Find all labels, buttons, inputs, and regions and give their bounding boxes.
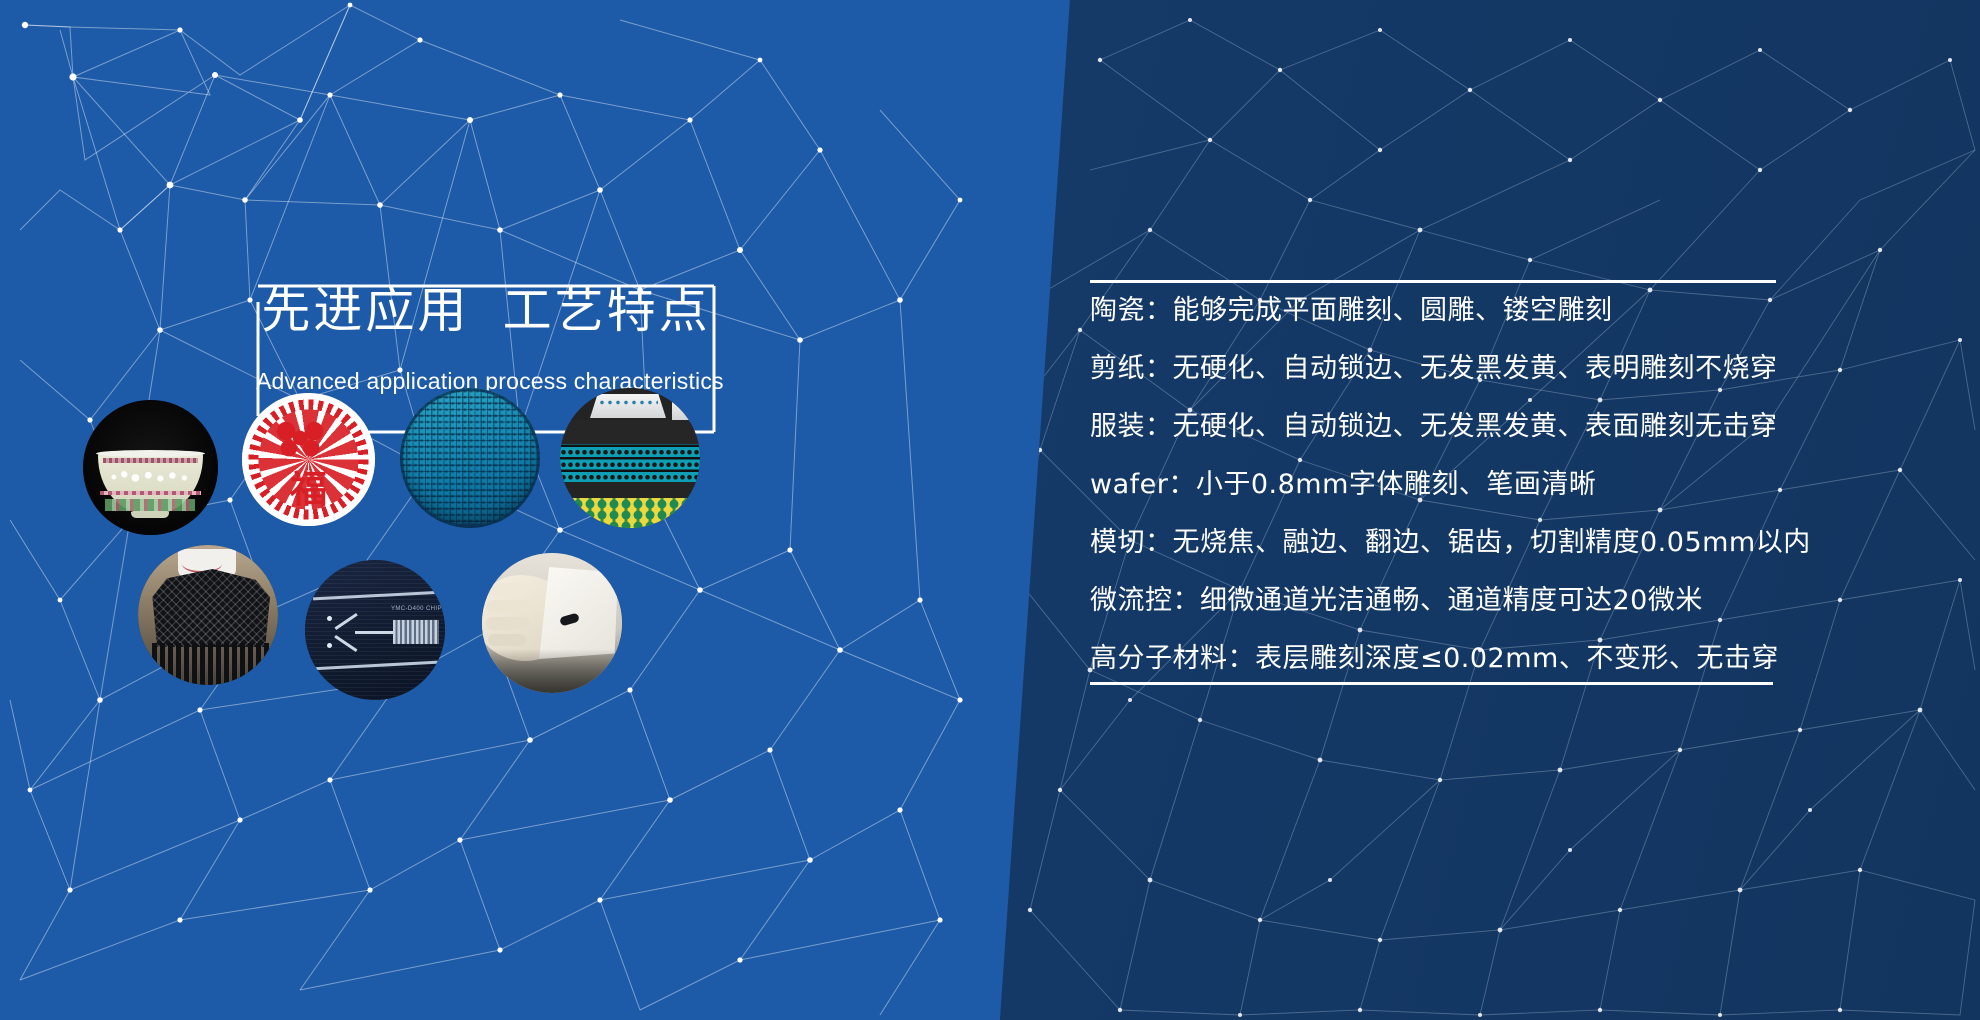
glove-finger-2 xyxy=(486,600,532,613)
bowl-engraved-motif xyxy=(107,468,193,486)
spec-item-ceramic: 陶瓷：能够完成平面雕刻、圆雕、镂空雕刻 xyxy=(1090,297,1790,324)
garment-fringe xyxy=(152,643,270,685)
film-shadow xyxy=(482,649,622,693)
gallery-item-micro-structure-chip[interactable] xyxy=(560,388,700,528)
microfluidic-inlet-upper xyxy=(327,616,332,621)
bowl-band-lower xyxy=(105,499,195,511)
gallery-item-polymer-film-hand[interactable] xyxy=(482,553,622,693)
bowl-foot xyxy=(131,512,169,518)
glove-finger-4 xyxy=(488,634,526,646)
microfluidic-inlet-lower xyxy=(327,643,332,648)
microfluidic-chip-label: YMC-D400 CHIP xyxy=(391,606,442,612)
papercut-rosette xyxy=(272,415,328,461)
bowl-band-top xyxy=(103,458,198,463)
bowl-band-middle xyxy=(100,491,201,495)
chip-white-pad-secondary xyxy=(672,400,700,422)
chip-white-pad-holes xyxy=(598,400,658,405)
specifications-list: 陶瓷：能够完成平面雕刻、圆雕、镂空雕刻 剪纸：无硬化、自动锁边、无发黑发黄、表明… xyxy=(1090,297,1790,672)
chip-dark-band-upper xyxy=(560,420,700,444)
chip-dark-band-lower xyxy=(560,482,700,498)
spec-item-polymer: 高分子材料：表层雕刻深度≤0.02mm、不变形、无击穿 xyxy=(1090,645,1790,672)
microfluidic-comb-array xyxy=(393,620,439,644)
gallery-item-microfluidic-chip[interactable]: YMC-D400 CHIP xyxy=(305,560,445,700)
gallery-item-silicon-wafer[interactable] xyxy=(400,388,540,528)
wafer-edge-ring xyxy=(400,388,540,528)
glove-finger-3 xyxy=(486,617,530,630)
spec-item-microfluidics: 微流控：细微通道光洁通畅、通道精度可达20微米 xyxy=(1090,587,1790,614)
chip-yellow-microcells xyxy=(560,498,700,528)
glove-finger-1 xyxy=(486,583,528,596)
gallery-item-red-papercut[interactable]: 福 xyxy=(242,393,375,526)
gallery-item-ceramic-bowl[interactable] xyxy=(83,400,218,535)
divider-top xyxy=(1090,280,1776,283)
chip-teal-separators xyxy=(560,444,700,482)
banner-stage: 先进应用 工艺特点 Advanced application process c… xyxy=(0,0,1980,1020)
gallery-item-perforated-garment[interactable] xyxy=(138,545,278,685)
spec-item-diecut: 模切：无烧焦、融边、翻边、锯齿，切割精度0.05mm以内 xyxy=(1090,529,1790,556)
spec-item-wafer: wafer：小于0.8mm字体雕刻、笔画清晰 xyxy=(1090,471,1790,498)
specifications-panel: 陶瓷：能够完成平面雕刻、圆雕、镂空雕刻 剪纸：无硬化、自动锁边、无发黑发黄、表明… xyxy=(1090,280,1790,685)
divider-bottom xyxy=(1090,682,1773,685)
spec-item-papercut: 剪纸：无硬化、自动锁边、无发黑发黄、表明雕刻不烧穿 xyxy=(1090,355,1790,382)
bowl-rim xyxy=(96,450,205,457)
papercut-fu-glyph: 福 xyxy=(242,471,375,508)
chip-white-pad xyxy=(590,394,666,418)
spec-item-apparel: 服装：无硬化、自动锁边、无发黑发黄、表面雕刻无击穿 xyxy=(1090,413,1790,440)
garment-perforation-weave xyxy=(150,569,270,647)
product-gallery: 福 xyxy=(0,0,900,1020)
microfluidic-channel-main xyxy=(355,631,395,634)
